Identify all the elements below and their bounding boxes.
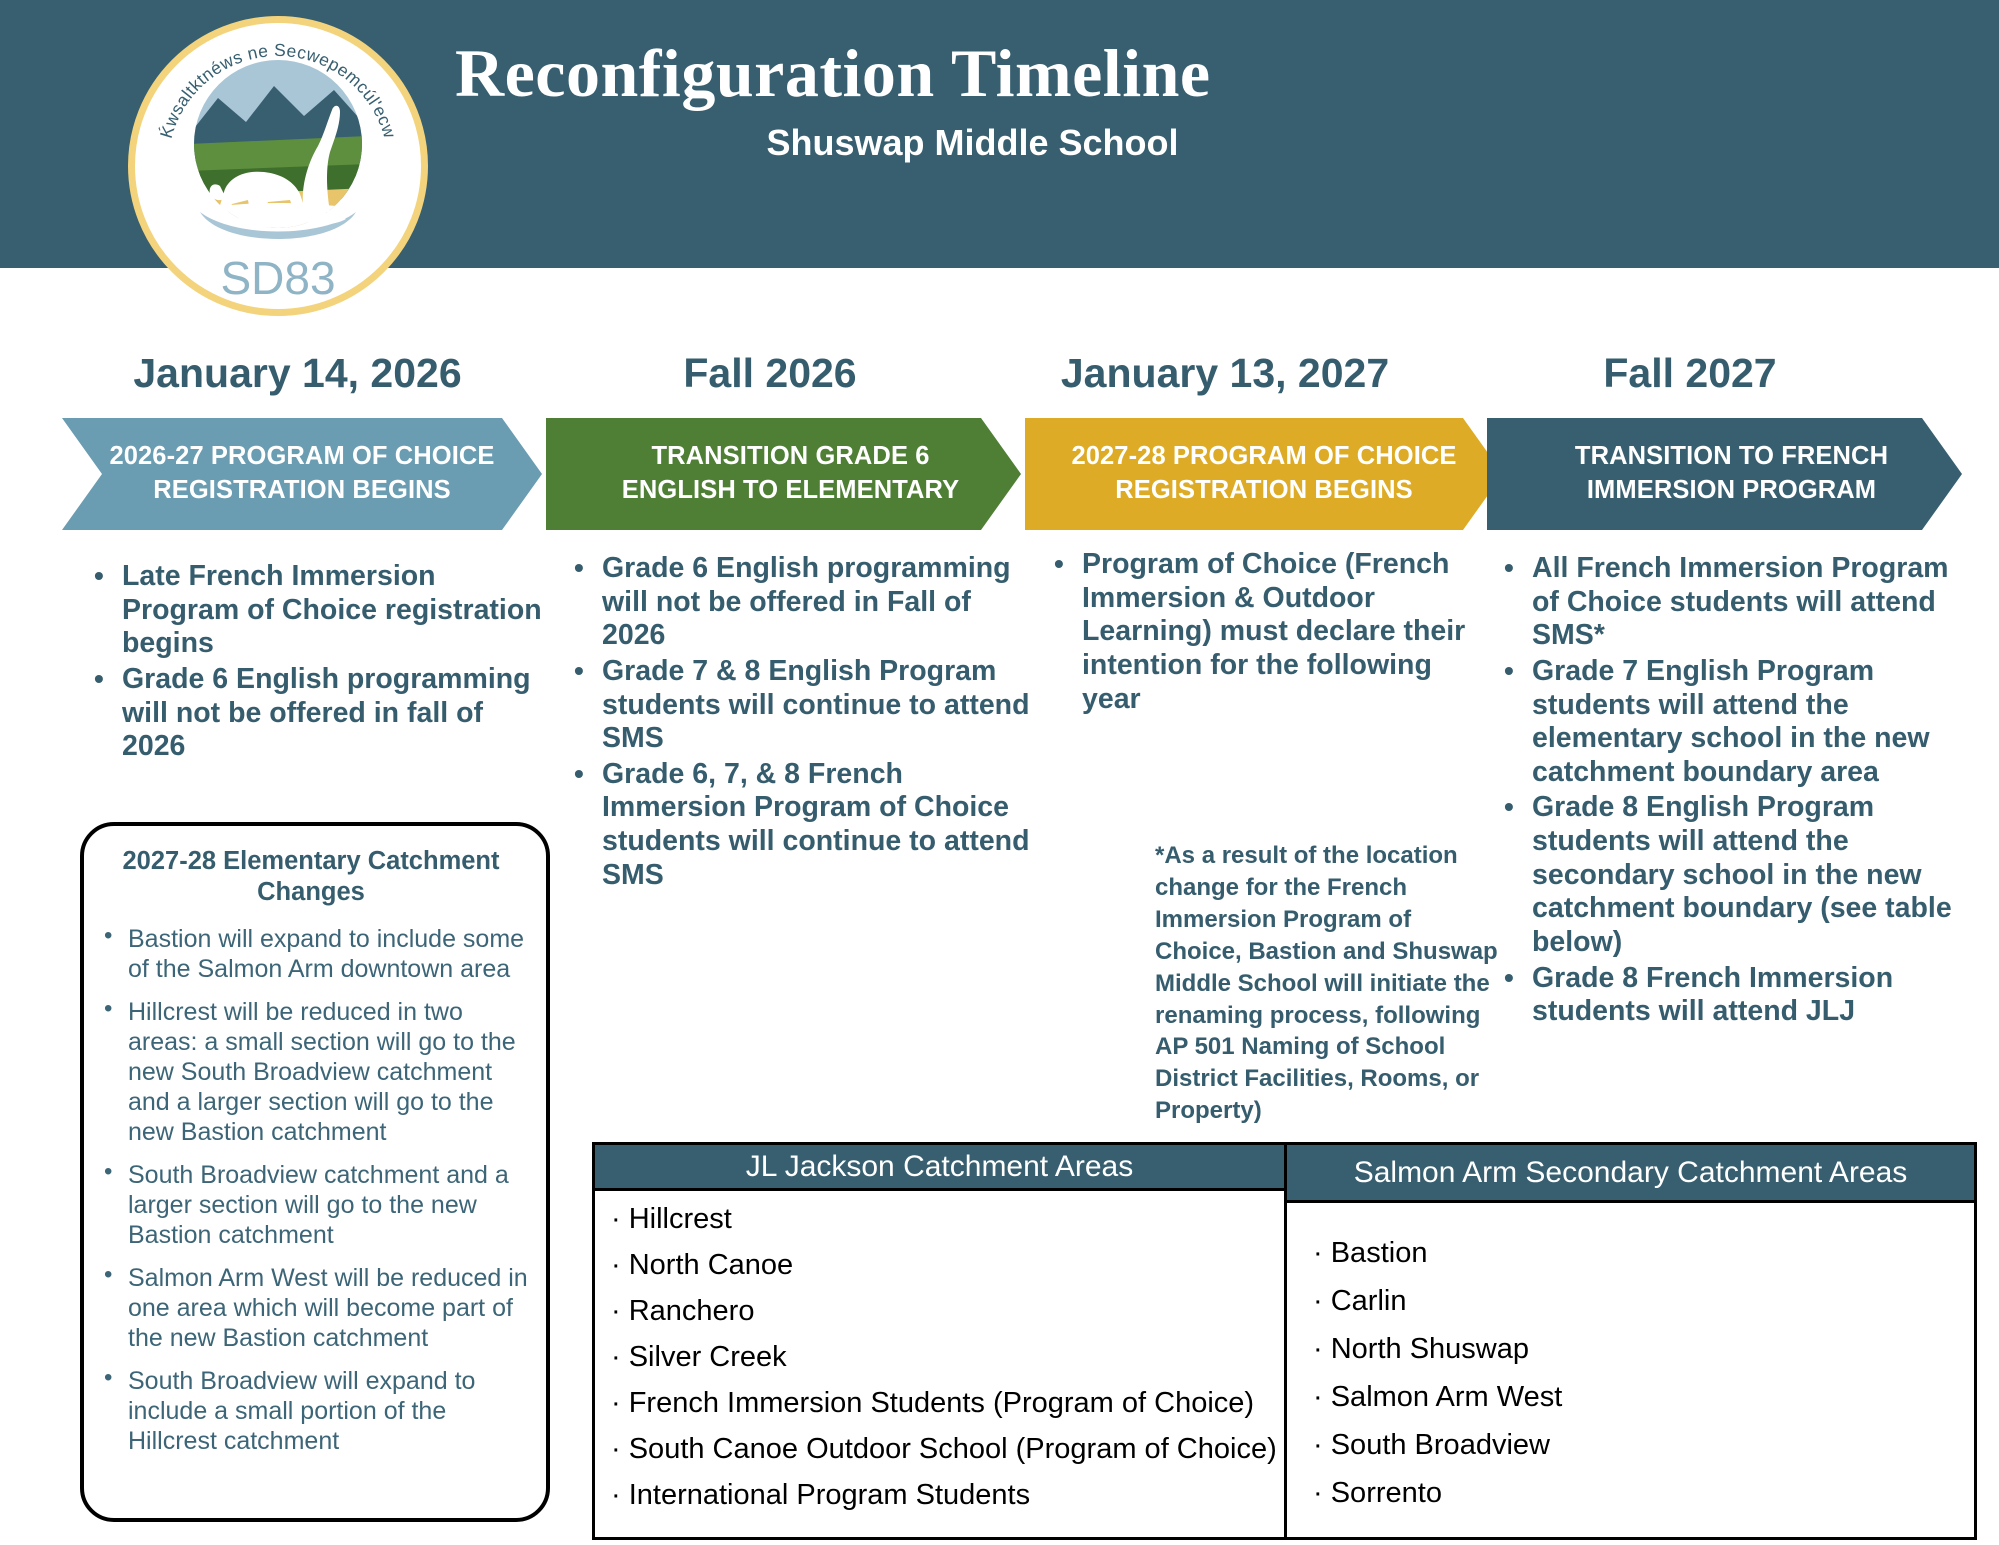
- page-subtitle: Shuswap Middle School: [455, 122, 1490, 164]
- list-item: South Broadview catchment and a larger s…: [92, 1160, 530, 1250]
- table-row: North Shuswap: [1313, 1335, 1958, 1364]
- sd83-crest-logo: Ḱwsaltktnéws ne Secwepemcúl'ecw SD83: [128, 16, 428, 316]
- table-row: North Canoe: [611, 1251, 1268, 1280]
- timeline-bullets-1: Grade 6 English programming will not be …: [560, 552, 1030, 892]
- table-row: South Canoe Outdoor School (Program of C…: [611, 1435, 1268, 1464]
- timeline-arrow-0: 2026-27 PROGRAM OF CHOICE REGISTRATION B…: [62, 418, 542, 530]
- timeline-arrow-1: TRANSITION GRADE 6 ENGLISH TO ELEMENTARY: [546, 418, 1021, 530]
- table-list-jl-jackson: Hillcrest North Canoe Ranchero Silver Cr…: [611, 1205, 1268, 1510]
- list-item: All French Immersion Program of Choice s…: [1490, 552, 1960, 653]
- list-item: Grade 8 English Program students will at…: [1490, 791, 1960, 959]
- timeline-date-3: Fall 2027: [1455, 350, 1925, 397]
- timeline-date-0: January 14, 2026: [55, 350, 540, 397]
- timeline-column-3: All French Immersion Program of Choice s…: [1490, 552, 1960, 1031]
- list-item: Late French Immersion Program of Choice …: [80, 560, 550, 661]
- table-list-salmon-arm-secondary: Bastion Carlin North Shuswap Salmon Arm …: [1313, 1239, 1958, 1508]
- table-column-salmon-arm-secondary: Salmon Arm Secondary Catchment Areas Bas…: [1287, 1145, 1974, 1537]
- timeline-arrow-label-0: 2026-27 PROGRAM OF CHOICE REGISTRATION B…: [96, 440, 508, 508]
- list-item: Bastion will expand to include some of t…: [92, 924, 530, 984]
- table-row: Sorrento: [1313, 1479, 1958, 1508]
- list-item: Grade 6, 7, & 8 French Immersion Program…: [560, 758, 1030, 893]
- table-body-jl-jackson: Hillcrest North Canoe Ranchero Silver Cr…: [595, 1191, 1284, 1537]
- timeline-arrow-3: TRANSITION TO FRENCH IMMERSION PROGRAM: [1487, 418, 1962, 530]
- list-item: Grade 7 English Program students will at…: [1490, 655, 1960, 790]
- list-item: Salmon Arm West will be reduced in one a…: [92, 1263, 530, 1353]
- timeline-date-2: January 13, 2027: [990, 350, 1460, 397]
- catchment-changes-box: 2027-28 Elementary Catchment Changes Bas…: [80, 822, 550, 1522]
- timeline-bullets-3: All French Immersion Program of Choice s…: [1490, 552, 1960, 1029]
- table-header-salmon-arm-secondary: Salmon Arm Secondary Catchment Areas: [1287, 1145, 1974, 1203]
- timeline-arrow-2: 2027-28 PROGRAM OF CHOICE REGISTRATION B…: [1025, 418, 1503, 530]
- list-item: South Broadview will expand to include a…: [92, 1366, 530, 1456]
- timeline-column-2: Program of Choice (French Immersion & Ou…: [1040, 548, 1490, 718]
- list-item: Grade 6 English programming will not be …: [560, 552, 1030, 653]
- list-item: Hillcrest will be reduced in two areas: …: [92, 997, 530, 1147]
- table-header-jl-jackson: JL Jackson Catchment Areas: [595, 1145, 1284, 1191]
- table-row: Bastion: [1313, 1239, 1958, 1268]
- table-row: Ranchero: [611, 1297, 1268, 1326]
- timeline-column-1: Grade 6 English programming will not be …: [560, 552, 1030, 894]
- list-item: Program of Choice (French Immersion & Ou…: [1040, 548, 1490, 716]
- table-row: International Program Students: [611, 1481, 1268, 1510]
- timeline-date-1: Fall 2026: [540, 350, 1000, 397]
- header-title-group: Reconfiguration Timeline Shuswap Middle …: [455, 34, 1655, 164]
- table-row: Salmon Arm West: [1313, 1383, 1958, 1412]
- list-item: Grade 6 English programming will not be …: [80, 663, 550, 764]
- catchment-areas-table: JL Jackson Catchment Areas Hillcrest Nor…: [592, 1142, 1977, 1540]
- table-row: Carlin: [1313, 1287, 1958, 1316]
- timeline-arrow-label-3: TRANSITION TO FRENCH IMMERSION PROGRAM: [1521, 440, 1928, 508]
- timeline-bullets-2: Program of Choice (French Immersion & Ou…: [1040, 548, 1490, 716]
- table-row: French Immersion Students (Program of Ch…: [611, 1389, 1268, 1418]
- list-item: Grade 8 French Immersion students will a…: [1490, 962, 1960, 1029]
- table-row: Hillcrest: [611, 1205, 1268, 1234]
- asterisk-footnote: *As a result of the location change for …: [1155, 840, 1500, 1127]
- list-item: Grade 7 & 8 English Program students wil…: [560, 655, 1030, 756]
- timeline-date-row: January 14, 2026 Fall 2026 January 13, 2…: [0, 350, 1999, 402]
- timeline-arrow-label-1: TRANSITION GRADE 6 ENGLISH TO ELEMENTARY: [580, 440, 987, 508]
- table-row: South Broadview: [1313, 1431, 1958, 1460]
- timeline-bullets-0: Late French Immersion Program of Choice …: [80, 560, 550, 764]
- timeline-column-0: Late French Immersion Program of Choice …: [80, 560, 550, 766]
- catchment-changes-title: 2027-28 Elementary Catchment Changes: [92, 846, 530, 908]
- table-body-salmon-arm-secondary: Bastion Carlin North Shuswap Salmon Arm …: [1287, 1203, 1974, 1537]
- timeline-arrow-label-2: 2027-28 PROGRAM OF CHOICE REGISTRATION B…: [1059, 440, 1469, 508]
- logo-artwork: Ḱwsaltktnéws ne Secwepemcúl'ecw SD83: [128, 16, 428, 316]
- catchment-changes-list: Bastion will expand to include some of t…: [92, 924, 530, 1456]
- logo-district-text: SD83: [220, 252, 335, 304]
- table-row: Silver Creek: [611, 1343, 1268, 1372]
- timeline-arrow-row: 2026-27 PROGRAM OF CHOICE REGISTRATION B…: [0, 418, 1999, 530]
- page-title: Reconfiguration Timeline: [455, 34, 1655, 112]
- table-column-jl-jackson: JL Jackson Catchment Areas Hillcrest Nor…: [595, 1145, 1287, 1537]
